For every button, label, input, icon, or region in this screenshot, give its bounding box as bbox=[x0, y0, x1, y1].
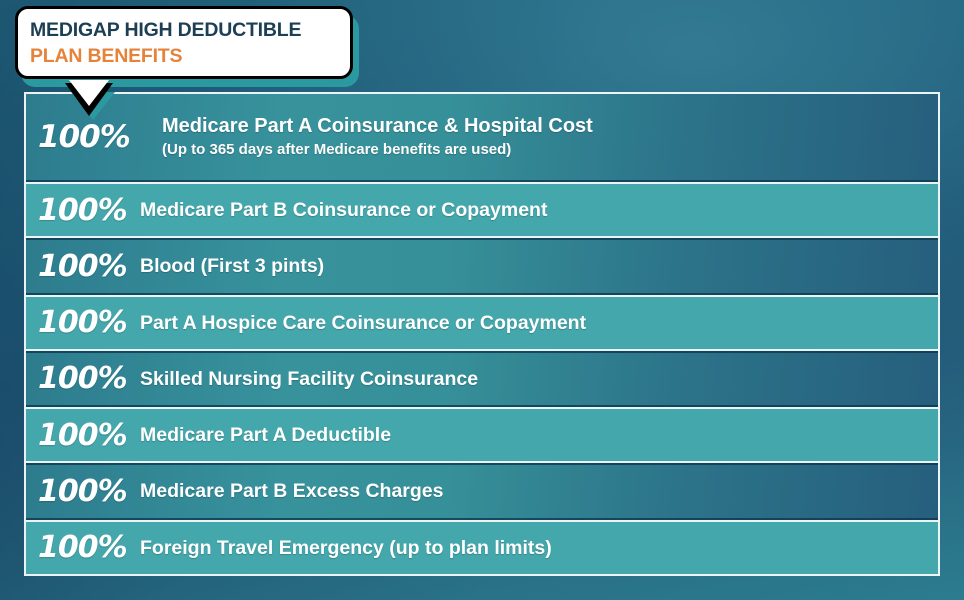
benefit-labels: Blood (First 3 pints) bbox=[140, 254, 938, 278]
percent-value: 100% bbox=[38, 249, 140, 284]
benefits-table: 100% Medicare Part A Coinsurance & Hospi… bbox=[24, 92, 940, 576]
page-subtitle: PLAN BENEFITS bbox=[30, 45, 338, 68]
table-row: 100% Medicare Part B Excess Charges bbox=[26, 463, 938, 519]
percent-value: 100% bbox=[38, 530, 140, 565]
benefit-labels: Medicare Part B Coinsurance or Copayment bbox=[140, 198, 938, 222]
headline-callout: MEDIGAP HIGH DEDUCTIBLE PLAN BENEFITS bbox=[15, 6, 353, 79]
benefit-label: Medicare Part B Coinsurance or Copayment bbox=[140, 198, 938, 222]
page-title: MEDIGAP HIGH DEDUCTIBLE bbox=[30, 19, 338, 42]
benefit-label: Medicare Part A Coinsurance & Hospital C… bbox=[162, 114, 938, 139]
benefit-labels: Foreign Travel Emergency (up to plan lim… bbox=[140, 536, 938, 560]
benefits-row-list: 100% Medicare Part A Coinsurance & Hospi… bbox=[26, 94, 938, 574]
benefit-labels: Skilled Nursing Facility Coinsurance bbox=[140, 367, 938, 391]
percent-value: 100% bbox=[38, 474, 140, 509]
table-row: 100% Blood (First 3 pints) bbox=[26, 238, 938, 294]
percent-value: 100% bbox=[38, 119, 140, 155]
callout-tail-fill bbox=[69, 80, 109, 106]
benefit-label: Skilled Nursing Facility Coinsurance bbox=[140, 367, 938, 391]
table-row: 100% Medicare Part A Coinsurance & Hospi… bbox=[26, 94, 938, 182]
table-row: 100% Foreign Travel Emergency (up to pla… bbox=[26, 520, 938, 574]
table-row: 100% Part A Hospice Care Coinsurance or … bbox=[26, 295, 938, 351]
medigap-benefits-poster: 100% Medicare Part A Coinsurance & Hospi… bbox=[0, 0, 964, 600]
benefit-labels: Medicare Part A Deductible bbox=[140, 423, 938, 447]
percent-value: 100% bbox=[38, 305, 140, 340]
table-row: 100% Skilled Nursing Facility Coinsuranc… bbox=[26, 351, 938, 407]
percent-value: 100% bbox=[38, 193, 140, 228]
benefit-label: Medicare Part A Deductible bbox=[140, 423, 938, 447]
table-row: 100% Medicare Part A Deductible bbox=[26, 407, 938, 463]
callout-bubble: MEDIGAP HIGH DEDUCTIBLE PLAN BENEFITS bbox=[15, 6, 353, 79]
benefit-labels: Part A Hospice Care Coinsurance or Copay… bbox=[140, 311, 938, 335]
benefit-label: Part A Hospice Care Coinsurance or Copay… bbox=[140, 311, 938, 335]
benefit-label: Medicare Part B Excess Charges bbox=[140, 479, 938, 503]
benefit-sublabel: (Up to 365 days after Medicare benefits … bbox=[162, 141, 938, 160]
percent-value: 100% bbox=[38, 361, 140, 396]
benefit-labels: Medicare Part A Coinsurance & Hospital C… bbox=[140, 114, 938, 160]
percent-value: 100% bbox=[38, 418, 140, 453]
benefit-label: Blood (First 3 pints) bbox=[140, 254, 938, 278]
table-row: 100% Medicare Part B Coinsurance or Copa… bbox=[26, 182, 938, 238]
benefit-label: Foreign Travel Emergency (up to plan lim… bbox=[140, 536, 938, 560]
benefit-labels: Medicare Part B Excess Charges bbox=[140, 479, 938, 503]
